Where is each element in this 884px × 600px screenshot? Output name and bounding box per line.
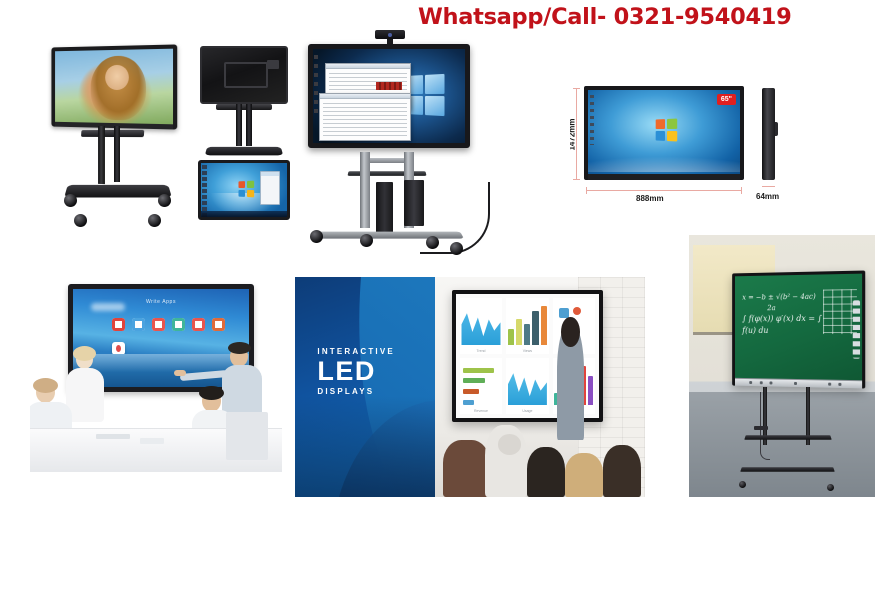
width-dimension-line (586, 190, 742, 191)
windows10-wallpaper (313, 49, 465, 143)
windows-logo-icon (238, 180, 254, 197)
banner-line-led: LED (317, 358, 395, 385)
document-text-lines (323, 103, 407, 137)
bar (463, 368, 494, 373)
toolbar-icon-home[interactable] (794, 382, 797, 385)
bar (588, 376, 593, 405)
windows7-wallpaper: 65" (588, 90, 740, 176)
board-formula-text: x = −b ± √(b² − 4ac) 2a ∫ f(φ(x)) φ′(x) … (742, 292, 833, 370)
bar (463, 378, 485, 383)
app-icon-calendar[interactable] (212, 318, 225, 331)
window-title-bar (326, 64, 410, 69)
person-hair (228, 342, 251, 354)
board-grid-table (823, 289, 857, 334)
banner-text-block: INTERACTIVE LED DISPLAYS (317, 347, 395, 396)
toolbar-icon[interactable] (749, 381, 752, 384)
document-window (319, 93, 411, 141)
stand-lower-shelf (740, 467, 835, 472)
formula-line-1: x = −b ± √(b² − 4ac) (742, 292, 833, 304)
65-inch-dimension-drawing: 65" 888mm 1472mm 64mm (570, 78, 792, 218)
caster-wheel (827, 484, 834, 491)
caster-wheel (426, 236, 439, 249)
window-title-bar (320, 94, 410, 99)
windows7-wallpaper (201, 163, 287, 217)
banner-line-interactive: INTERACTIVE (317, 347, 395, 356)
area-series (461, 311, 500, 346)
formula-line-3: ∫ f(φ(x)) φ′(x) dx = ∫ f(u) du (742, 313, 833, 337)
caster-wheel (310, 230, 323, 243)
green-board-classroom-photo: x = −b ± √(b² − 4ac) 2a ∫ f(φ(x)) φ′(x) … (689, 235, 875, 497)
size-badge: 65" (717, 94, 736, 105)
app-icon-notes[interactable] (152, 318, 165, 331)
trolley-column-left (98, 126, 105, 184)
audience-person-right (603, 445, 641, 497)
interactive-panel-motorised-trolley-photo (300, 30, 550, 260)
presenter-head (561, 317, 580, 348)
office-chair (226, 412, 268, 460)
audience-group (435, 405, 645, 497)
bar (463, 389, 479, 394)
dashboard-column-chart: Views (506, 298, 548, 354)
display-portrait-image (55, 49, 173, 126)
toolbar-icon[interactable] (769, 381, 772, 384)
app-icon-whiteboard[interactable] (112, 318, 125, 331)
banner-audience-silhouette (295, 396, 435, 497)
stand-upper-shelf (744, 435, 831, 440)
board-tool-buttons[interactable] (853, 300, 860, 358)
desktop-dialog-window (260, 171, 280, 205)
banner-blue-panel: INTERACTIVE LED DISPLAYS (295, 277, 435, 497)
audience-person-blonde (565, 453, 603, 497)
windows7-display-inset (198, 160, 290, 220)
area-series (508, 371, 547, 406)
meeting-room-photo: Write Apps (30, 272, 282, 472)
app-icon-files[interactable] (172, 318, 185, 331)
panel-side-buttons (314, 55, 318, 117)
portrait-face (105, 65, 129, 90)
bar (524, 324, 530, 345)
column-series (508, 306, 547, 345)
toolbar-icon[interactable] (759, 381, 762, 384)
interactive-led-displays-banner: INTERACTIVE LED DISPLAYS Trend (295, 277, 645, 497)
audience-person-dark-hair (527, 447, 565, 497)
panel-side-view (762, 88, 775, 180)
app-icon-row (112, 318, 225, 331)
banner-room-scene: Trend Views (435, 277, 645, 497)
video-camera-icon (375, 30, 405, 39)
caster-wheel (360, 234, 373, 247)
caster-wheel (74, 214, 87, 227)
bar-series (463, 366, 499, 406)
trolley-base (64, 185, 172, 198)
person-hand (174, 370, 186, 376)
audience-person (443, 440, 489, 497)
trolley-base (312, 232, 464, 239)
windows-logo-icon (656, 119, 678, 142)
panel-front-view: 65" (584, 86, 744, 180)
toolbar-icon[interactable] (828, 383, 831, 386)
trolley-shelf (81, 130, 144, 137)
document-highlight (376, 82, 402, 90)
dashboard-area-chart: Trend (460, 298, 502, 354)
rear-trolley-column-left (236, 104, 242, 146)
rear-trolley-shelf (216, 104, 272, 110)
audience-head-grey (498, 434, 521, 454)
display-side-toolbar (202, 165, 207, 217)
bar (508, 329, 514, 345)
height-dimension-label: 1472mm (570, 118, 577, 150)
trolley-column-right (114, 126, 120, 182)
windows-logo-icon (406, 74, 445, 116)
vesa-mount-plate (224, 62, 268, 88)
notepad (96, 434, 130, 439)
rear-port-cluster (267, 60, 279, 69)
kpi-dot (573, 307, 581, 315)
board-surface: x = −b ± √(b² − 4ac) 2a ∫ f(φ(x)) φ′(x) … (735, 273, 862, 385)
front-display-panel (51, 44, 177, 129)
green-interactive-board: x = −b ± √(b² − 4ac) 2a ∫ f(φ(x)) φ′(x) … (732, 270, 865, 388)
windows-taskbar (201, 211, 287, 217)
width-dimension-label: 888mm (636, 194, 664, 203)
bar (516, 319, 522, 345)
collage-canvas: Whatsapp/Call- 0321-9540419 (0, 0, 884, 600)
bar (541, 306, 547, 345)
person-hair (73, 346, 96, 361)
caster-wheel (148, 214, 161, 227)
chart-caption: Trend (460, 349, 502, 353)
caster-wheel (158, 194, 171, 207)
depth-dimension-label: 64mm (756, 192, 779, 201)
display-screen-title: Write Apps (73, 299, 249, 305)
person-hair (33, 378, 58, 393)
wallpaper-light-curve (588, 138, 740, 172)
tv-on-trolley-photo (30, 38, 292, 254)
caster-wheel (64, 194, 77, 207)
panel-bottom-bezel (588, 174, 740, 180)
laptop-on-table (140, 438, 164, 444)
rear-trolley-base (205, 147, 283, 155)
interactive-flat-panel (308, 44, 470, 148)
classroom-floor (689, 392, 875, 497)
depth-dimension-line (762, 186, 775, 187)
banner-line-displays: DISPLAYS (317, 387, 395, 396)
bar (532, 311, 538, 345)
opc-module (376, 182, 393, 234)
toolbar-icon[interactable] (838, 383, 841, 386)
contact-headline: Whatsapp/Call- 0321-9540419 (418, 2, 818, 32)
rear-trolley-column-right (246, 104, 252, 146)
person-hair (199, 386, 224, 400)
laptop-on-shelf (754, 426, 768, 430)
trolley-column-left (360, 152, 370, 228)
app-icon-settings[interactable] (192, 318, 205, 331)
caster-wheel (450, 242, 463, 255)
panel-side-buttons (590, 95, 594, 145)
display-rear-view (200, 46, 288, 104)
chart-caption: Views (506, 349, 548, 353)
app-icon-browser[interactable] (132, 318, 145, 331)
